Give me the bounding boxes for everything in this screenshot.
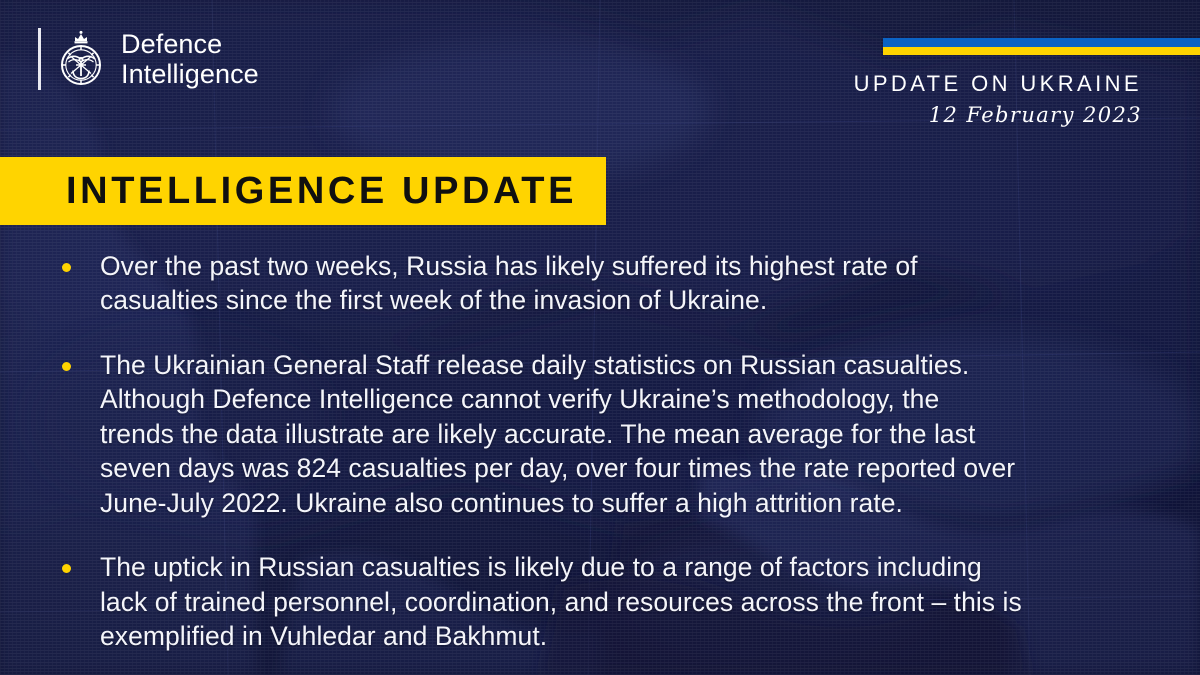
- brand-organisation-name: Defence Intelligence: [121, 29, 259, 89]
- bullet-text: The uptick in Russian casualties is like…: [100, 550, 1022, 653]
- update-date: 12 February 2023: [929, 103, 1142, 127]
- bullet-dot-icon: [62, 362, 71, 371]
- intelligence-update-poster: Defence Intelligence UPDATE ON UKRAINE 1…: [0, 0, 1200, 675]
- defence-intelligence-crest-icon: [55, 28, 107, 90]
- defence-intelligence-brand: Defence Intelligence: [38, 28, 259, 90]
- list-item: Over the past two weeks, Russia has like…: [62, 249, 1142, 318]
- bullet-text: The Ukrainian General Staff release dail…: [100, 348, 1015, 520]
- update-on-ukraine-label: UPDATE ON UKRAINE: [854, 71, 1142, 97]
- flag-yellow-stripe: [883, 47, 1200, 56]
- list-item: The Ukrainian General Staff release dail…: [62, 348, 1142, 520]
- bullet-list: Over the past two weeks, Russia has like…: [62, 249, 1142, 653]
- brand-divider: [38, 28, 41, 90]
- intelligence-update-banner-label: INTELLIGENCE UPDATE: [0, 170, 577, 213]
- ukraine-flag-bar: [883, 38, 1200, 55]
- bullet-dot-icon: [62, 564, 71, 573]
- flag-blue-stripe: [883, 38, 1200, 47]
- intelligence-update-banner: INTELLIGENCE UPDATE: [0, 157, 606, 225]
- list-item: The uptick in Russian casualties is like…: [62, 550, 1142, 653]
- bullet-dot-icon: [62, 263, 71, 272]
- bullet-text: Over the past two weeks, Russia has like…: [100, 249, 918, 318]
